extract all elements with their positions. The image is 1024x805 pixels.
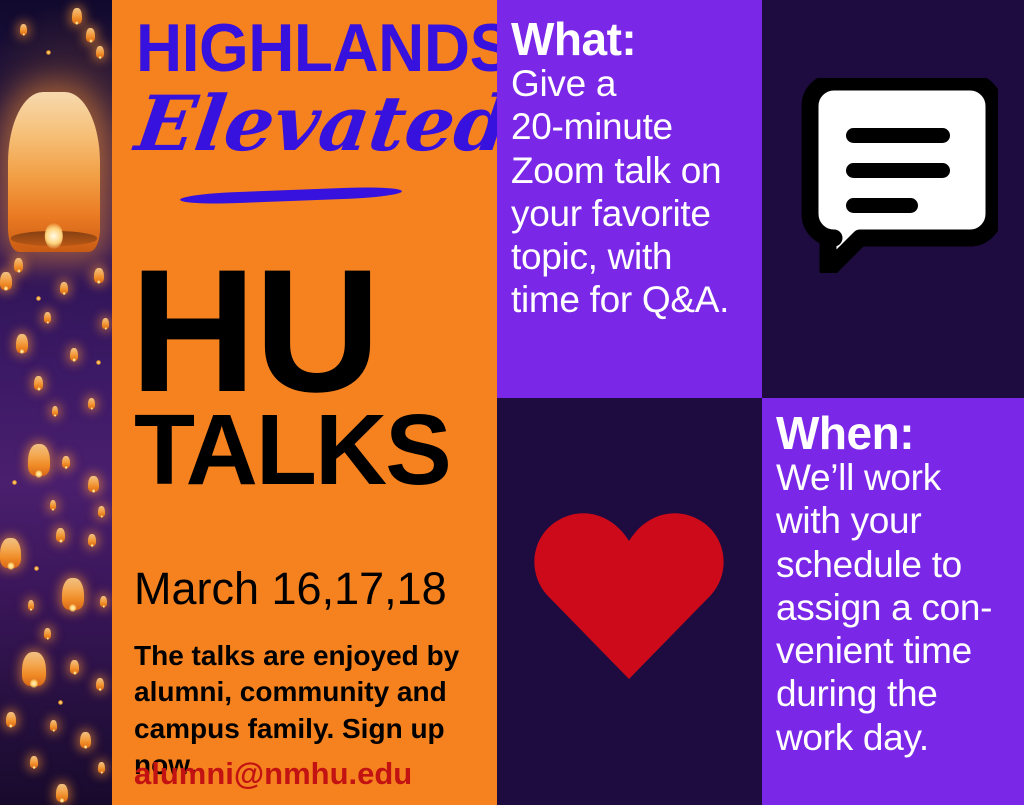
lantern-small (16, 334, 28, 353)
lantern-small (100, 596, 107, 607)
when-heading: When: (776, 410, 1024, 456)
when-body-line: during the (776, 672, 1024, 715)
lantern-small (62, 456, 70, 468)
speech-bubble-panel (762, 0, 1024, 398)
what-body-line: time for Q&A. (511, 278, 759, 321)
lantern-small (96, 678, 104, 690)
lantern-small (20, 24, 27, 35)
what-body-line: Give a (511, 62, 759, 105)
lantern-small (86, 28, 95, 42)
lantern-small (88, 398, 95, 409)
when-body-line: schedule to (776, 543, 1024, 586)
speech-bubble-icon (790, 78, 998, 273)
what-heading: What: (511, 16, 759, 62)
lantern-spark (12, 480, 17, 485)
what-body-line: Zoom talk on (511, 149, 759, 192)
what-body-line: 20-minute (511, 105, 759, 148)
lantern-small (44, 312, 51, 323)
what-panel-text: What: Give a 20-minute Zoom talk on your… (511, 16, 759, 322)
when-body-line: with your (776, 499, 1024, 542)
lantern-small (60, 282, 68, 294)
lantern-small (28, 600, 34, 610)
lantern-medium (28, 444, 50, 476)
lantern-medium (0, 538, 21, 568)
lantern-small (56, 784, 68, 802)
logo-highlands-text: HIGHLANDS (136, 16, 465, 81)
lantern-medium (62, 578, 84, 610)
when-body-line: We’ll work (776, 456, 1024, 499)
lantern-small (80, 732, 91, 748)
lantern-small (96, 46, 104, 58)
lantern-medium (22, 652, 46, 686)
when-panel: When: We’ll work with your schedule to a… (762, 398, 1024, 805)
sky-lanterns-photo (0, 0, 112, 805)
lantern-small (34, 376, 43, 390)
lantern-small (50, 500, 56, 510)
lantern-small (70, 348, 78, 361)
lantern-large (8, 92, 100, 252)
lantern-small (70, 660, 79, 674)
lantern-spark (36, 296, 41, 301)
lantern-small (30, 756, 38, 768)
lantern-small (98, 762, 105, 773)
orange-column: HIGHLANDS Elevated HU TALKS March 16,17,… (112, 0, 497, 805)
lantern-small (98, 506, 105, 517)
lantern-spark (96, 360, 101, 365)
what-panel: What: Give a 20-minute Zoom talk on your… (497, 0, 762, 398)
lantern-small (94, 268, 104, 283)
what-body-line: your favorite (511, 192, 759, 235)
heart-panel (497, 398, 762, 805)
lantern-small (72, 8, 82, 24)
lantern-small (14, 258, 23, 272)
lantern-spark (46, 50, 51, 55)
logo-elevated-script: Elevated (131, 86, 499, 162)
lantern-small (88, 534, 96, 546)
when-panel-text: When: We’ll work with your schedule to a… (776, 410, 1024, 759)
contact-email[interactable]: alumni@nmhu.edu (134, 758, 412, 789)
page-title-hu: HU (130, 255, 379, 409)
lantern-small (50, 720, 57, 731)
when-body-line: venient time (776, 629, 1024, 672)
page-subtitle-talks: TALKS (134, 405, 450, 495)
logo-underline-swoosh (180, 186, 402, 206)
what-body-line: topic, with (511, 235, 759, 278)
lantern-small (56, 528, 65, 542)
lantern-small (0, 272, 12, 290)
lantern-small (88, 476, 99, 492)
what-body: Give a 20-minute Zoom talk on your favor… (511, 62, 759, 322)
lantern-small (6, 712, 16, 727)
heart-icon (533, 503, 725, 681)
lantern-spark (34, 566, 39, 571)
when-body-line: work day. (776, 716, 1024, 759)
lantern-small (102, 318, 109, 329)
lantern-spark (58, 700, 63, 705)
lantern-small (44, 628, 51, 639)
lantern-small (52, 406, 58, 416)
when-body: We’ll work with your schedule to assign … (776, 456, 1024, 759)
event-date: March 16,17,18 (134, 565, 447, 612)
poster-canvas: HIGHLANDS Elevated HU TALKS March 16,17,… (0, 0, 1024, 805)
when-body-line: assign a con- (776, 586, 1024, 629)
